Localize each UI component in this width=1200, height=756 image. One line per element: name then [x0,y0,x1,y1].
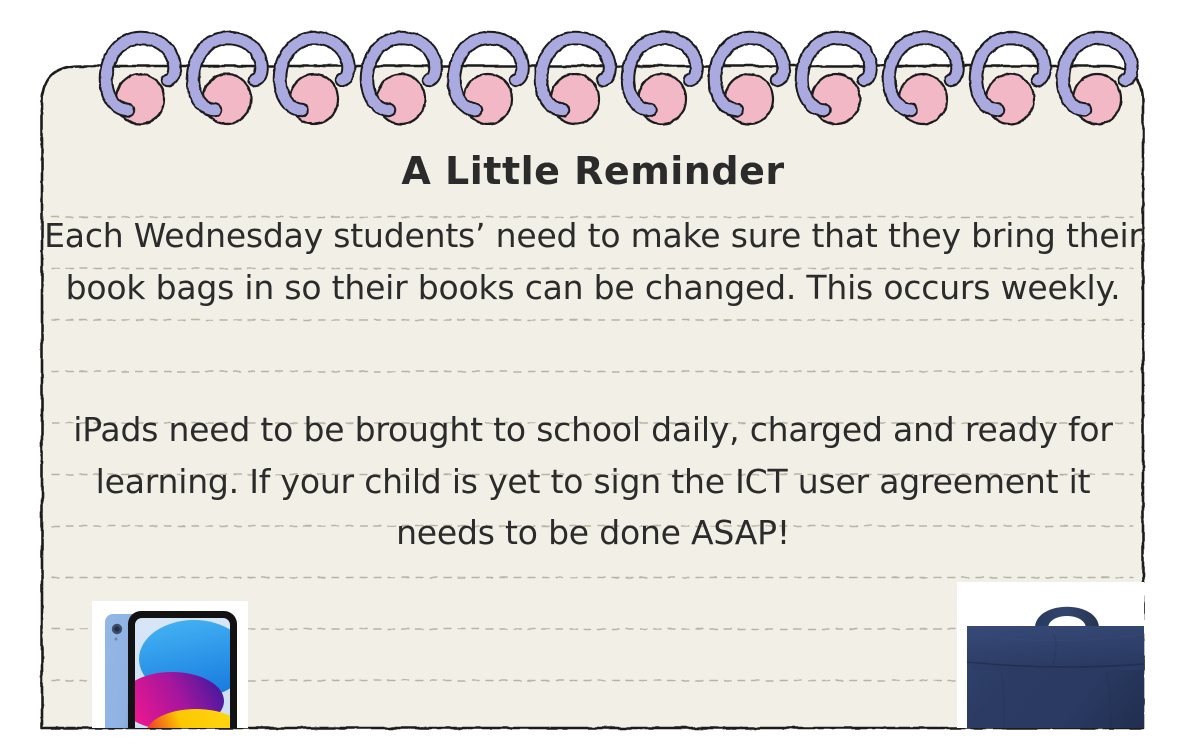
spiral-notepad: A Little Reminder Each Wednesday student… [0,0,1200,756]
navy-book-bag-photo [957,582,1144,728]
page-title: A Little Reminder [42,152,1144,190]
note-paragraph-ipads: iPads need to be brought to school daily… [42,404,1144,559]
note-content: A Little Reminder Each Wednesday student… [42,64,1144,728]
ipad-tablet-photo [92,601,248,728]
note-paragraph-bookbags: Each Wednesday students’ need to make su… [42,210,1144,313]
